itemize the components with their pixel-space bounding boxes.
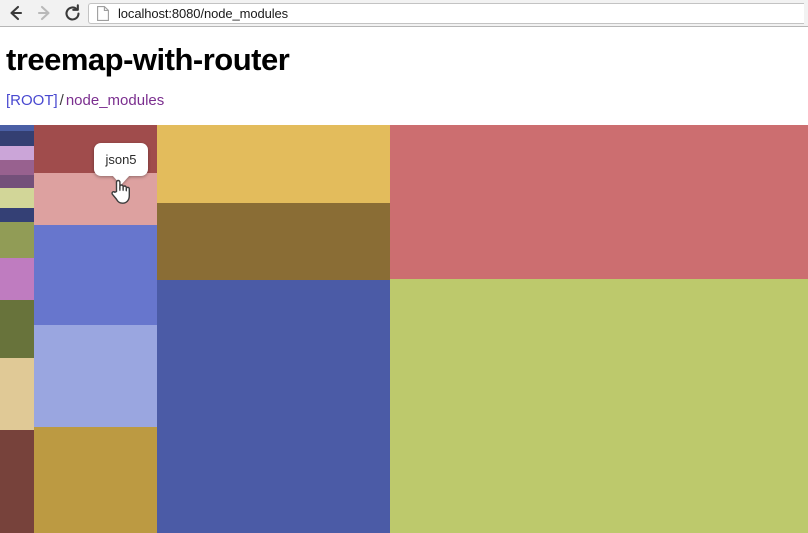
tile-19[interactable]	[157, 203, 390, 280]
reload-button[interactable]	[58, 0, 86, 26]
breadcrumb: [ROOT]/node_modules	[6, 92, 164, 109]
tile-20[interactable]	[157, 280, 390, 533]
tile-17[interactable]	[34, 427, 157, 533]
forward-button[interactable]	[30, 0, 58, 26]
treemap-canvas[interactable]: json5	[0, 125, 808, 533]
breadcrumb-separator: /	[58, 92, 66, 109]
tile-2[interactable]	[0, 131, 34, 146]
breadcrumb-link-node-modules[interactable]: node_modules	[66, 92, 164, 109]
tile-4[interactable]	[0, 160, 34, 175]
reload-icon	[63, 4, 82, 23]
tile-10[interactable]	[0, 300, 34, 358]
back-button[interactable]	[2, 0, 30, 26]
tile-11[interactable]	[0, 358, 34, 430]
forward-arrow-icon	[35, 4, 53, 22]
browser-toolbar: localhost:8080/node_modules	[0, 0, 808, 27]
tile-8[interactable]	[0, 222, 34, 258]
tile-5[interactable]	[0, 175, 34, 188]
back-arrow-icon	[7, 4, 25, 22]
url-bar[interactable]: localhost:8080/node_modules	[88, 3, 804, 24]
breadcrumb-link-root[interactable]: [ROOT]	[6, 92, 58, 109]
url-text: localhost:8080/node_modules	[118, 6, 288, 21]
page-document-icon	[97, 6, 109, 21]
pointing-hand-cursor	[109, 177, 133, 205]
page-title: treemap-with-router	[6, 42, 289, 78]
tile-21[interactable]	[390, 125, 808, 279]
tile-9[interactable]	[0, 258, 34, 300]
tile-7[interactable]	[0, 208, 34, 222]
tile-6[interactable]	[0, 188, 34, 208]
tile-18[interactable]	[157, 125, 390, 203]
tile-16[interactable]	[34, 325, 157, 427]
tile-12[interactable]	[0, 430, 34, 533]
page-content: treemap-with-router [ROOT]/node_modules …	[0, 28, 808, 533]
tooltip: json5	[94, 143, 148, 176]
tile-15[interactable]	[34, 225, 157, 325]
tooltip-label: json5	[105, 152, 136, 167]
tile-14[interactable]	[34, 173, 157, 225]
tile-3[interactable]	[0, 146, 34, 160]
tile-22[interactable]	[390, 279, 808, 533]
